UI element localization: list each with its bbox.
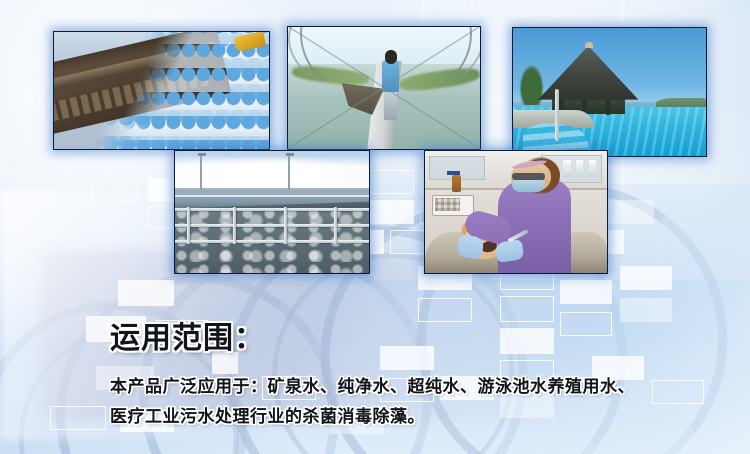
photo-aquaculture-greenhouse (287, 26, 481, 150)
application-scope-headline: 运用范围： (110, 322, 670, 356)
photo-swimming-pool (512, 27, 707, 157)
photo-aquaculture-greenhouse-content (288, 27, 480, 149)
application-scope-line-2: 医疗工业污水处理行业的杀菌消毒除藻。 (110, 402, 670, 432)
photo-bottling-line (53, 31, 270, 150)
photo-bottling-line-content (54, 32, 269, 149)
photo-wastewater-plant-content (175, 151, 369, 273)
photo-dental-clinic-content (425, 151, 607, 273)
photo-wastewater-plant (174, 150, 370, 274)
photo-dental-clinic (424, 150, 608, 274)
application-scope-line-1: 本产品广泛应用于：矿泉水、纯净水、超纯水、游泳池水养殖用水、 (110, 372, 670, 402)
product-application-banner: 运用范围： 本产品广泛应用于：矿泉水、纯净水、超纯水、游泳池水养殖用水、 医疗工… (0, 0, 750, 454)
application-scope-text-block: 运用范围： 本产品广泛应用于：矿泉水、纯净水、超纯水、游泳池水养殖用水、 医疗工… (110, 322, 670, 432)
photo-swimming-pool-content (513, 28, 706, 156)
